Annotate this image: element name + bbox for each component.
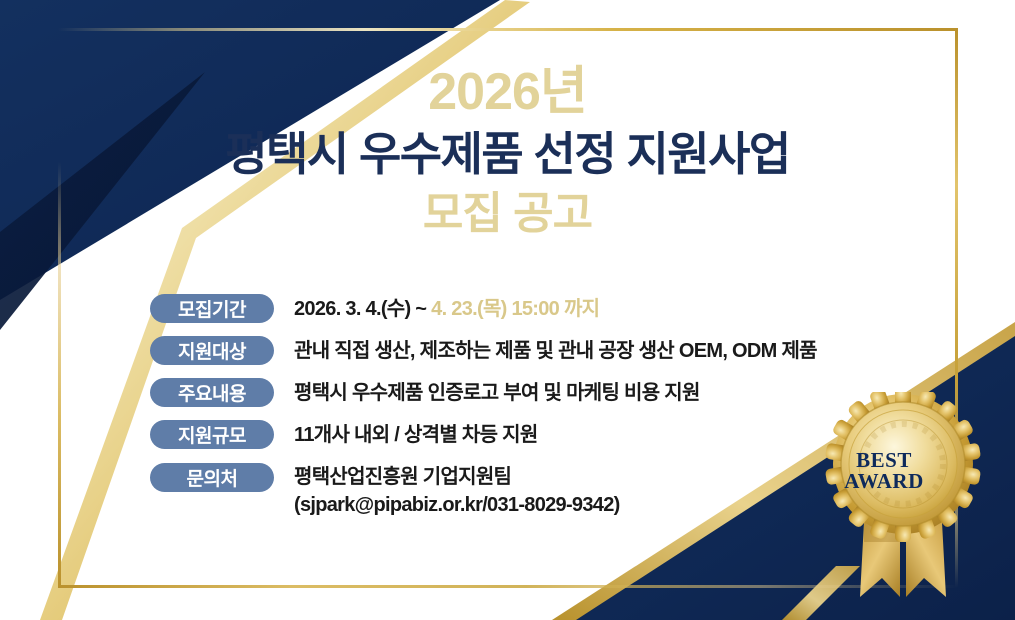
label-contact: 문의처: [150, 463, 274, 492]
info-row-eligibility: 지원대상 관내 직접 생산, 제조하는 제품 및 관내 공장 생산 OEM, O…: [150, 336, 940, 365]
value-contact-detail[interactable]: (sjpark@pipabiz.or.kr/031-8029-9342): [294, 492, 620, 518]
label-eligibility: 지원대상: [150, 336, 274, 365]
value-eligibility: 관내 직접 생산, 제조하는 제품 및 관내 공장 생산 OEM, ODM 제품: [294, 336, 817, 364]
award-badge-line2: AWARD: [808, 471, 960, 492]
info-row-recruit-period: 모집기간 2026. 3. 4.(수) ~ 4. 23.(목) 15:00 까지: [150, 294, 940, 323]
award-rosette-icon: BEST AWARD: [808, 392, 998, 607]
value-recruit-period-accent: 4. 23.(목) 15:00 까지: [431, 298, 599, 320]
value-recruit-period: 2026. 3. 4.(수) ~ 4. 23.(목) 15:00 까지: [294, 294, 599, 322]
label-support-scale: 지원규모: [150, 420, 274, 449]
frame-top-edge: [58, 28, 958, 31]
label-recruit-period: 모집기간: [150, 294, 274, 323]
award-rosette-graphic: [808, 392, 998, 607]
label-main-content: 주요내용: [150, 378, 274, 407]
award-badge-line1: BEST: [808, 450, 960, 471]
value-contact: 평택산업진흥원 기업지원팀(sjpark@pipabiz.or.kr/031-8…: [294, 462, 620, 518]
value-recruit-period-plain: 2026. 3. 4.(수) ~: [294, 298, 431, 320]
poster-headings: 2026년 평택시 우수제품 선정 지원사업 모집 공고: [0, 64, 1015, 239]
value-contact-org: 평택산업진흥원 기업지원팀: [294, 466, 511, 488]
sub-title: 모집 공고: [0, 188, 1015, 239]
value-main-content: 평택시 우수제품 인증로고 부여 및 마케팅 비용 지원: [294, 378, 700, 406]
year-title: 2026년: [0, 64, 1015, 120]
poster-canvas: 2026년 평택시 우수제품 선정 지원사업 모집 공고 모집기간 2026. …: [0, 0, 1015, 620]
value-support-scale: 11개사 내외 / 상격별 차등 지원: [294, 420, 538, 448]
award-badge-text: BEST AWARD: [808, 450, 960, 493]
main-title: 평택시 우수제품 선정 지원사업: [0, 128, 1015, 181]
